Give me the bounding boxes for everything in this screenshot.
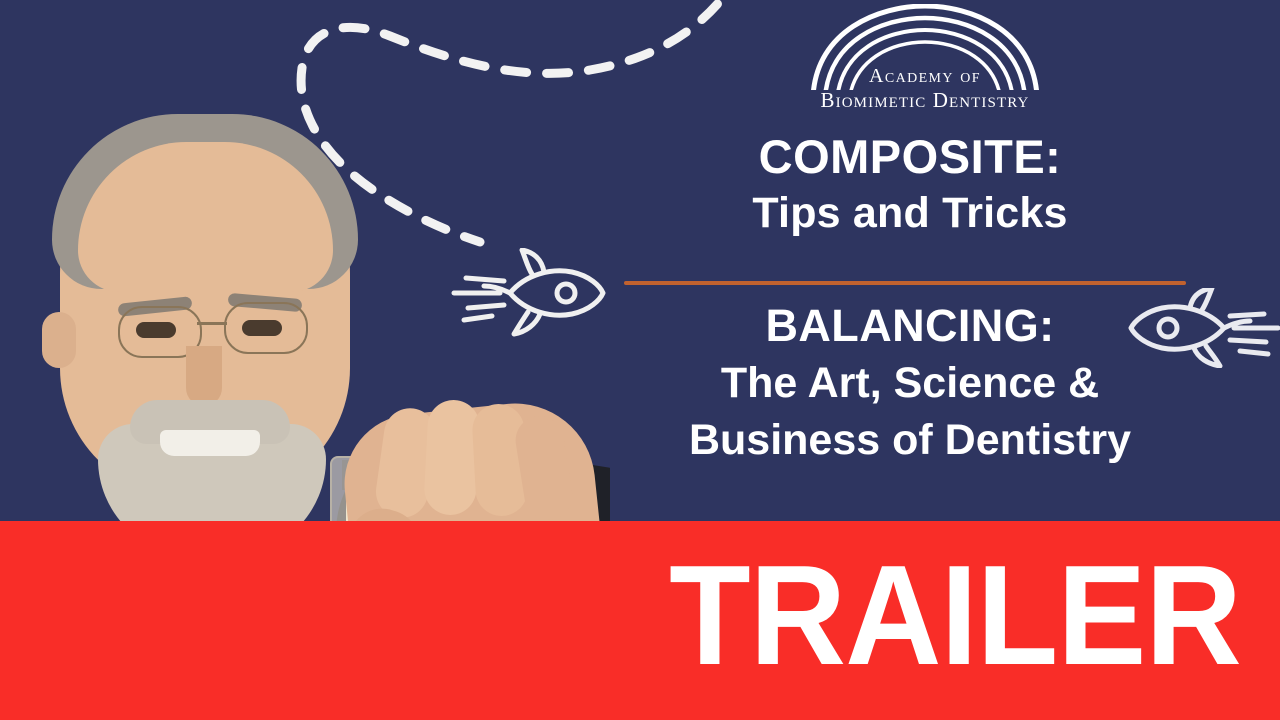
finger-middle [423,399,481,517]
title-divider [624,281,1186,285]
mouth [160,430,260,456]
eyeglass-bridge [197,322,227,325]
eyeglass-lens-right [224,302,308,354]
trailer-label: TRAILER [659,536,1251,696]
eye-left [136,322,176,338]
mustache [130,400,290,444]
ear [42,312,76,368]
head [60,128,350,498]
nose [186,346,222,406]
title-block-balancing: BALANCING: The Art, Science & Business o… [605,302,1215,466]
title-block-composite: COMPOSITE: Tips and Tricks [610,132,1210,237]
title-balancing-subheading-line2: Business of Dentistry [605,415,1215,466]
eye-right [242,320,282,336]
title-composite-heading: COMPOSITE: [610,132,1210,183]
finger-ring [471,403,529,518]
eyebrow-left [118,296,193,317]
eyeglass-lens-left [118,306,202,358]
finger-pinky [512,413,576,523]
model-top-strip [342,460,508,490]
video-thumbnail: Academy of Biomimetic Dentistry COMPOSIT… [0,0,1280,720]
forehead [78,142,333,292]
eyebrow-right [228,293,303,312]
logo-text: Academy of Biomimetic Dentistry [795,66,1055,111]
title-balancing-subheading-line1: The Art, Science & [605,358,1215,409]
finger-index [373,405,440,521]
logo-line-1: Academy of [795,66,1055,88]
logo-line-2: Biomimetic Dentistry [795,89,1055,112]
title-composite-subheading: Tips and Tricks [610,189,1210,237]
title-balancing-heading: BALANCING: [605,302,1215,351]
academy-logo: Academy of Biomimetic Dentistry [795,4,1055,126]
hair [52,114,358,289]
